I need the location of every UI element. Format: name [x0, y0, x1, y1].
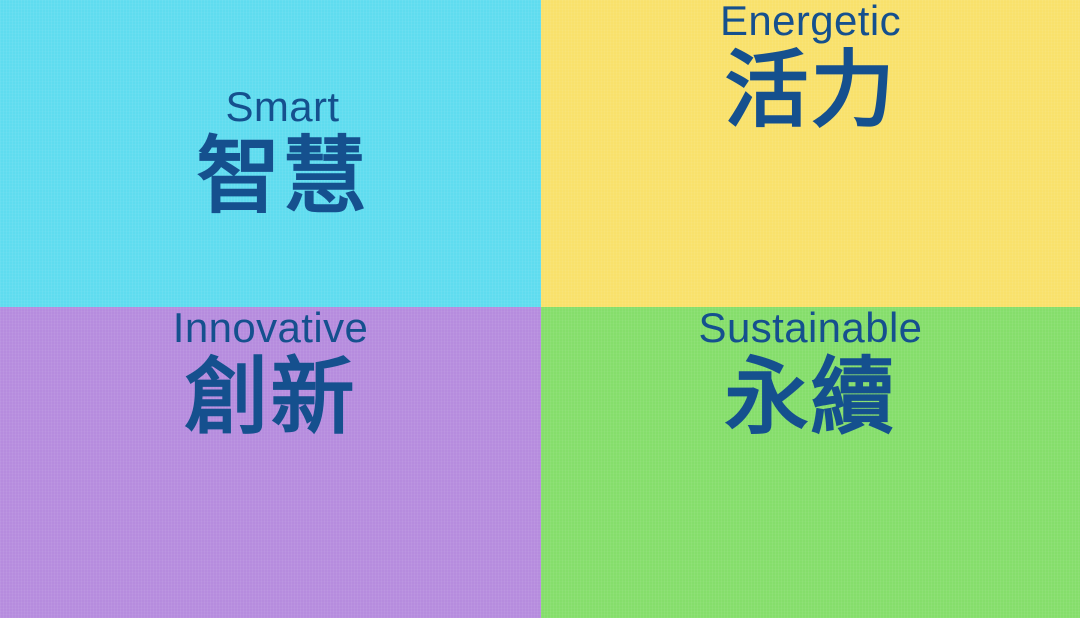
value-panel-smart: Smart 智慧 [0, 0, 541, 307]
value-text-block-smart: Smart 智慧 [0, 0, 541, 220]
value-panel-energetic: Energetic 活力 [541, 0, 1080, 307]
value-label-en-innovative: Innovative [173, 307, 368, 349]
value-panel-innovative: Innovative 創新 [0, 307, 541, 618]
brand-values-grid: Smart 智慧 Energetic 活力 Innovative 創新 Sust… [0, 0, 1080, 618]
value-label-zh-energetic: 活力 [724, 48, 896, 134]
value-label-en-sustainable: Sustainable [699, 307, 923, 349]
value-label-zh-sustainable: 永續 [724, 355, 896, 441]
value-label-en-smart: Smart [225, 86, 339, 128]
value-label-en-energetic: Energetic [720, 0, 901, 42]
value-label-zh-innovative: 創新 [184, 355, 356, 441]
value-label-zh-smart: 智慧 [196, 134, 368, 220]
value-panel-sustainable: Sustainable 永續 [541, 307, 1080, 618]
value-text-block-innovative: Innovative 創新 [0, 307, 541, 441]
value-text-block-sustainable: Sustainable 永續 [541, 307, 1080, 441]
value-text-block-energetic: Energetic 活力 [541, 0, 1080, 134]
